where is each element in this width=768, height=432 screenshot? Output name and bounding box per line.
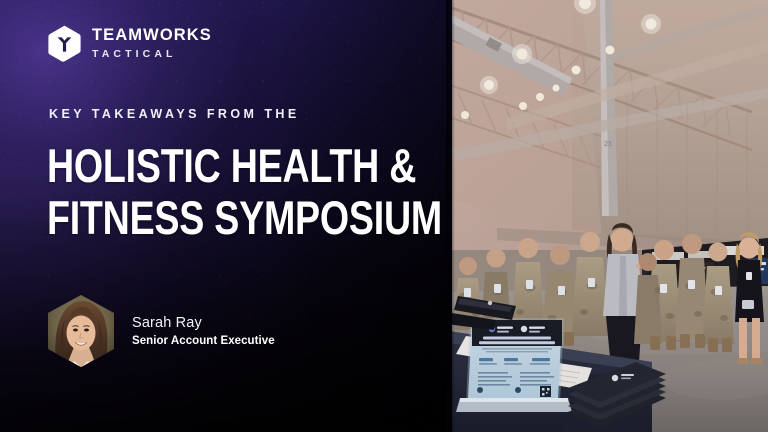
brand-name-secondary: TACTICAL: [92, 45, 212, 61]
brand-name-primary: TEAMWORKS: [92, 27, 212, 44]
presentation-slide: TEAMWORKS TACTICAL KEY TAKEAWAYS FROM TH…: [0, 0, 768, 432]
event-photo: 23: [452, 0, 768, 432]
brand-logo-lockup[interactable]: TEAMWORKS TACTICAL: [48, 25, 212, 62]
headline-kicker: KEY TAKEAWAYS FROM THE: [49, 107, 300, 121]
hexagon-y-logo-icon: [48, 25, 81, 62]
avatar: [48, 295, 114, 367]
headline-line-2: FITNESS SYMPOSIUM: [47, 192, 359, 244]
event-photo-illustration: 23: [452, 0, 768, 432]
speaker-avatar-hexagon: [48, 295, 114, 367]
title-panel: TEAMWORKS TACTICAL KEY TAKEAWAYS FROM TH…: [0, 0, 452, 432]
speaker-info: Sarah Ray Senior Account Executive: [132, 314, 275, 349]
speaker-name: Sarah Ray: [132, 314, 275, 332]
speaker-title: Senior Account Executive: [132, 332, 275, 348]
speaker-credit: Sarah Ray Senior Account Executive: [48, 296, 275, 366]
headline-line-1: HOLISTIC HEALTH &: [47, 140, 359, 192]
page-title: HOLISTIC HEALTH & FITNESS SYMPOSIUM: [47, 140, 437, 244]
brand-logo-wordmark: TEAMWORKS TACTICAL: [92, 26, 212, 60]
